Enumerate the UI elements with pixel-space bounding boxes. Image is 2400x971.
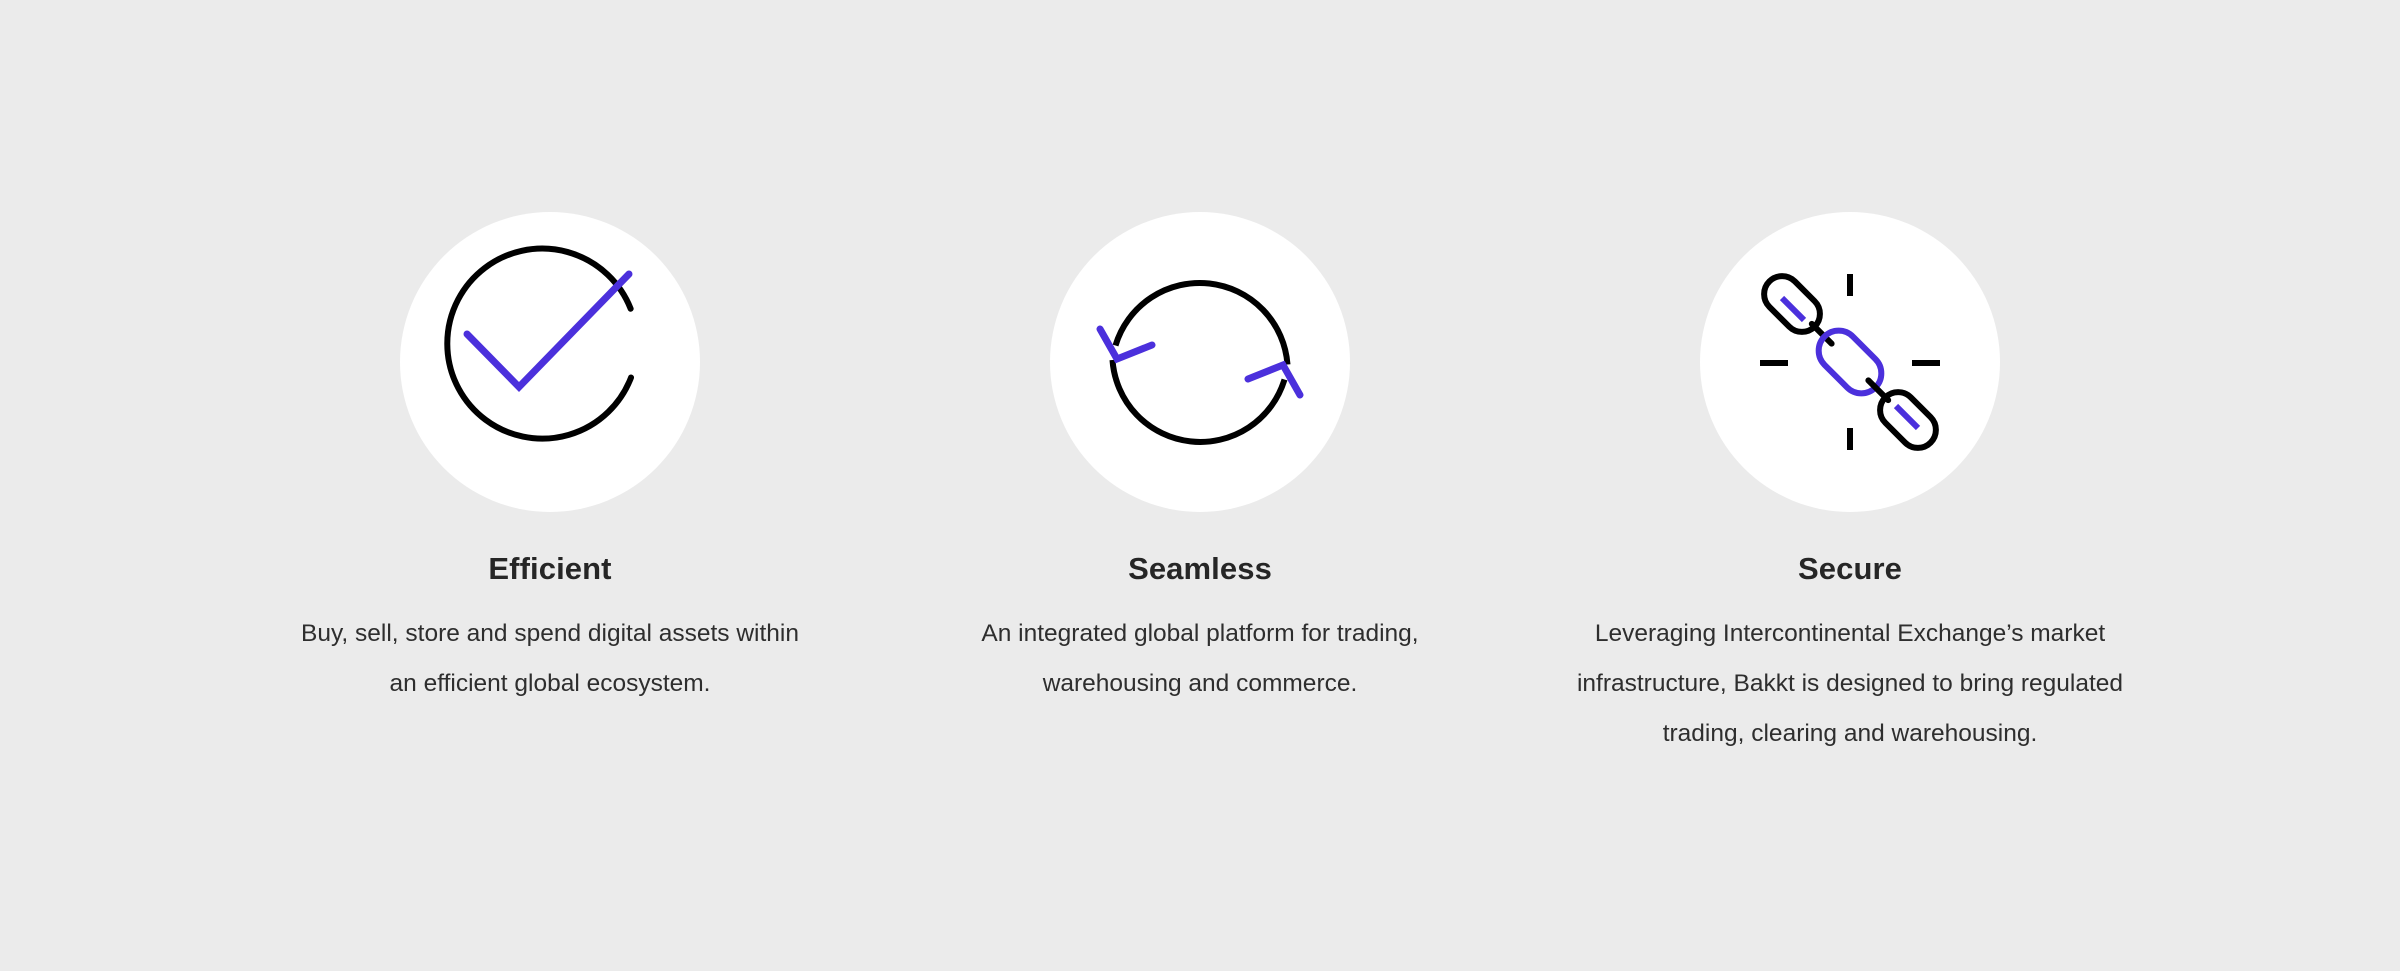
icon-circle-secure [1700, 212, 2000, 512]
feature-title: Efficient [488, 550, 611, 587]
feature-card-efficient: Efficient Buy, sell, store and spend dig… [225, 212, 875, 709]
feature-description: An integrated global platform for tradin… [940, 609, 1460, 709]
refresh-cycle-icon [1050, 212, 1350, 512]
feature-card-seamless: Seamless An integrated global platform f… [875, 212, 1525, 709]
icon-circle-efficient [400, 212, 700, 512]
features-section: Efficient Buy, sell, store and spend dig… [0, 0, 2400, 971]
ray-upper-left [1782, 298, 1804, 320]
icon-circle-seamless [1050, 212, 1350, 512]
feature-title: Seamless [1128, 550, 1272, 587]
check-circle-icon [400, 212, 700, 512]
chain-link-icon [1700, 212, 2000, 512]
feature-card-secure: Secure Leveraging Intercontinental Excha… [1525, 212, 2175, 759]
ray-lower-right [1896, 406, 1918, 428]
feature-title: Secure [1798, 550, 1902, 587]
features-row: Efficient Buy, sell, store and spend dig… [150, 212, 2250, 759]
feature-description: Leveraging Intercontinental Exchange’s m… [1570, 609, 2130, 759]
feature-description: Buy, sell, store and spend digital asset… [300, 609, 800, 709]
